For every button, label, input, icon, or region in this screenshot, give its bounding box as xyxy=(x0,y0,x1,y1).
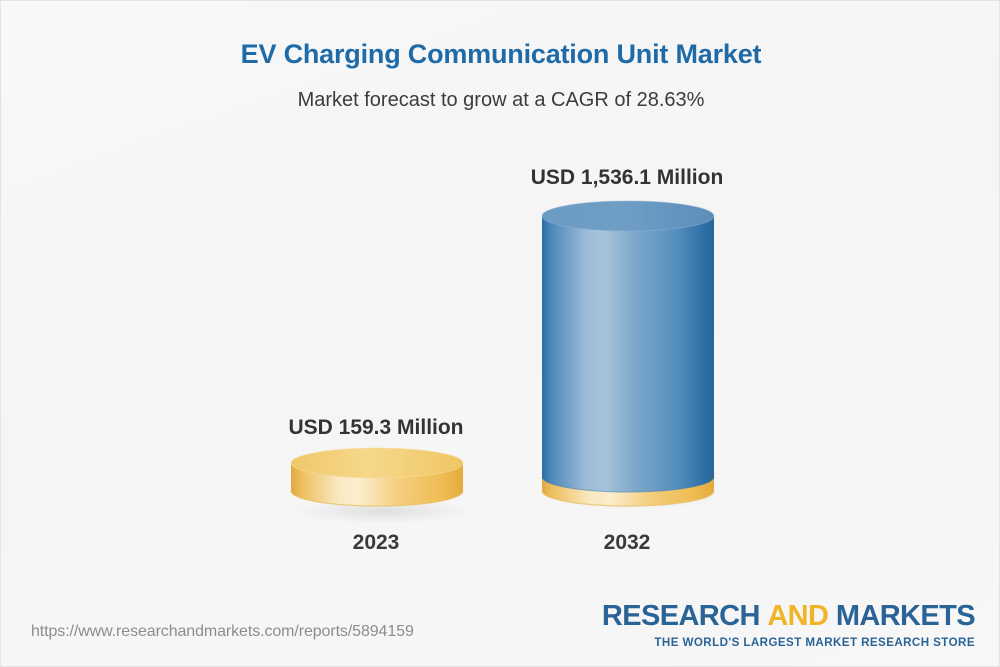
brand-word-markets: MARKETS xyxy=(836,600,975,632)
report-url[interactable]: https://www.researchandmarkets.com/repor… xyxy=(31,623,414,641)
chart-canvas: EV Charging Communication Unit Market Ma… xyxy=(0,0,1000,667)
value-label-2023: USD 159.3 Million xyxy=(206,416,546,440)
bar-cylinder-2032 xyxy=(530,186,730,531)
brand-word-and: AND xyxy=(767,600,828,632)
brand-wordmark: RESEARCH AND MARKETS xyxy=(602,602,975,631)
brand-word-research: RESEARCH xyxy=(602,600,760,632)
value-label-2032: USD 1,536.1 Million xyxy=(457,166,797,190)
brand-tagline: THE WORLD'S LARGEST MARKET RESEARCH STOR… xyxy=(602,636,975,649)
bar-segment-growth-2032 xyxy=(542,216,714,492)
chart-title: EV Charging Communication Unit Market xyxy=(1,39,1000,70)
brand-logo[interactable]: RESEARCH AND MARKETS THE WORLD'S LARGEST… xyxy=(602,602,975,649)
bar-cylinder-2023 xyxy=(279,441,479,531)
category-label-2032: 2032 xyxy=(457,531,797,555)
chart-subtitle: Market forecast to grow at a CAGR of 28.… xyxy=(1,89,1000,112)
brand-space-2 xyxy=(828,600,835,632)
